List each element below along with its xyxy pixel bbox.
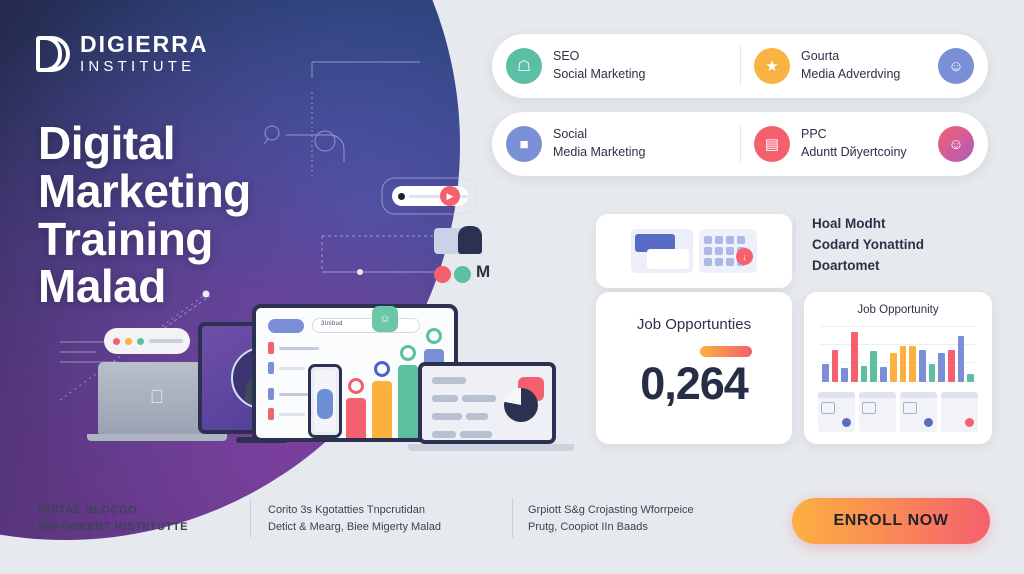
thumbnail-item (941, 392, 978, 432)
service-subtitle: Media Marketing (553, 144, 645, 162)
chart-bar (900, 346, 907, 382)
person-silhouette-icon (458, 226, 482, 254)
pie-chart-icon (504, 388, 538, 422)
smile-badge-icon: ☺ (372, 306, 398, 332)
laptop-base (87, 434, 227, 441)
laptop2-base (408, 444, 574, 451)
enroll-now-button[interactable]: ENROLL NOW (792, 498, 990, 544)
page-title: Digital Marketing Training Malad (38, 120, 251, 311)
chart-bar (929, 364, 936, 382)
tablet-chart-marker (426, 328, 442, 344)
footer-address-line-1: Corito 3s Kgotatties Tnpcrutidan (268, 502, 506, 519)
job-opportunity-chart-card: Job Opportunity (804, 292, 992, 444)
laptop-text-lines (432, 376, 500, 448)
tablet-chart-marker (348, 378, 364, 394)
check-badge-icon (454, 266, 471, 283)
brand-name-secondary: INSTITUTE (80, 59, 208, 74)
user-icon: ☺ (938, 126, 974, 162)
service-card-row-2: ■ Social Media Marketing ▤ PPC Aduntt Dй… (492, 112, 988, 176)
brand-logo: DIGIERRA INSTITUTE (36, 33, 208, 74)
money-bag-icon: ★ (754, 48, 790, 84)
service-item-seo[interactable]: ☖ SEO Social Marketing (492, 34, 740, 98)
tablet-chart-bar (398, 365, 418, 438)
service-card-row-1: ☖ SEO Social Marketing ★ Gourta Media Ad… (492, 34, 988, 98)
download-badge-icon: ↓ (736, 248, 753, 265)
dashboard-thumbnail-icon (631, 229, 693, 273)
headline-line-3: Training (38, 216, 251, 264)
logo-d-mark (36, 36, 70, 72)
chart-thumbnail-row (818, 392, 978, 432)
headline-line-2: Marketing (38, 168, 251, 216)
chart-bar (822, 364, 829, 382)
thumbnail-item (900, 392, 937, 432)
footer-info-line-1: Grpiott S&g Crojasting Wforrpeice (528, 502, 766, 519)
service-title: PPC (801, 126, 907, 144)
mid-line-2: Codard Yonattind (812, 234, 1002, 255)
chart-bar (948, 350, 955, 382)
thumbnail-item (859, 392, 896, 432)
chart-bar (919, 350, 926, 382)
briefcase-icon: ■ (506, 126, 542, 162)
tablet-chart-marker (400, 345, 416, 361)
tablet-search-text: 3Inibud (321, 321, 343, 327)
service-subtitle: Media Adverdving (801, 66, 900, 84)
stat-value: 0,264 (596, 358, 792, 410)
footer-brand-line-2: /INFOGEENT INSTIITUTTE (38, 519, 238, 536)
chart-bar (870, 351, 877, 382)
service-item-media-advertising[interactable]: ★ Gourta Media Adverdving ☺ (740, 34, 988, 98)
progress-dot-icon (398, 193, 405, 200)
service-title: SEO (553, 48, 645, 66)
mid-line-1: Hoal Modht (812, 213, 1002, 234)
chart-bar (861, 366, 868, 382)
service-item-ppc[interactable]: ▤ PPC Aduntt Dйyertcoiny ☺ (740, 112, 988, 176)
tablet-chart-bar (372, 381, 392, 438)
service-item-social-media-marketing[interactable]: ■ Social Media Marketing (492, 112, 740, 176)
chart-bars (822, 330, 974, 382)
play-icon[interactable]: ▶ (440, 186, 460, 206)
tablet-search-field: 3Inibud (312, 318, 420, 333)
tablet-chart-marker (374, 361, 390, 377)
footer-address-line-2: Detict & Mearg, Biee Migerty Malad (268, 519, 506, 536)
service-subtitle: Aduntt Dйyertcoiny (801, 144, 907, 162)
brand-name-primary: DIGIERRA (80, 33, 208, 56)
alert-badge-icon (434, 266, 451, 283)
service-subtitle: Social Marketing (553, 66, 645, 84)
badge-letter: M (476, 262, 490, 282)
chart-bar (832, 350, 839, 382)
service-title: Social (553, 126, 645, 144)
stat-accent-bar (700, 346, 752, 357)
user-icon: ☺ (938, 48, 974, 84)
footer-info: Grpiott S&g Crojasting Wforrpeice Prutg,… (528, 502, 766, 535)
chart-bar (958, 336, 965, 382)
chart-square-icon: ▤ (754, 126, 790, 162)
tablet-nav-pill (268, 319, 304, 333)
headline-line-1: Digital (38, 120, 251, 168)
footer-info-line-2: Prutg, Coopiot IIn Baads (528, 519, 766, 536)
chart-bar (938, 353, 945, 382)
chart-bar (967, 374, 974, 382)
phone-device (308, 364, 342, 438)
footer-address: Corito 3s Kgotatties Tnpcrutidan Detict … (268, 502, 506, 535)
apple-logo-icon:  (150, 387, 164, 409)
tablet-chart-bar (346, 398, 366, 438)
chart-bar (909, 346, 916, 382)
service-title: Gourta (801, 48, 900, 66)
chart-title: Job Opportunity (804, 304, 992, 316)
footer-brand-line-1: DDITAE BLOCOO (38, 502, 238, 519)
chat-bubble-icon (104, 328, 190, 354)
job-opportunities-stat-card: Job Opportunties 0,264 (596, 292, 792, 444)
chart-bar (851, 332, 858, 382)
devices-illustration:  3Inibud ☺ (70, 300, 590, 480)
mid-description: Hoal Modht Codard Yonattind Doartomet (812, 213, 1002, 276)
footer-brand: DDITAE BLOCOO /INFOGEENT INSTIITUTTE (38, 502, 238, 535)
home-camera-icon: ☖ (506, 48, 542, 84)
stat-title: Job Opportunties (596, 316, 792, 333)
thumbnail-item (818, 392, 855, 432)
chart-plot-area (820, 326, 976, 382)
mid-line-3: Doartomet (812, 255, 1002, 276)
chart-bar (890, 353, 897, 382)
grid-thumbnail-icon: ↓ (699, 229, 757, 273)
chart-bar (880, 367, 887, 382)
laptop-analytics-device (418, 362, 556, 444)
chart-bar (841, 368, 848, 382)
mini-preview-card: ↓ (596, 214, 792, 288)
